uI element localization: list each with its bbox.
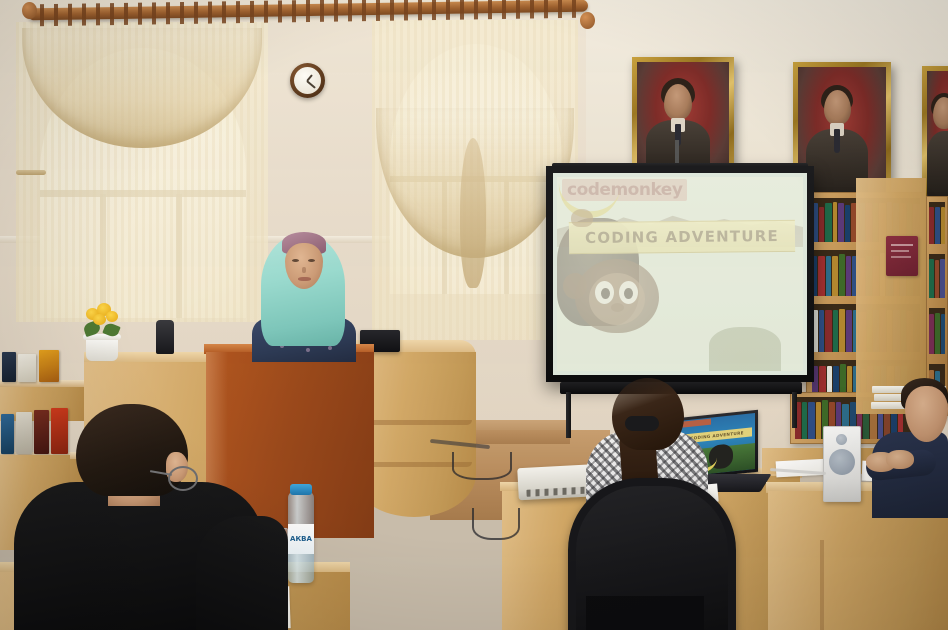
student-foreground-arm	[196, 516, 288, 630]
window-left	[16, 22, 268, 322]
book-display-stand	[0, 352, 84, 470]
chair-seat	[586, 596, 704, 630]
flower-bloom-4	[93, 314, 106, 325]
clock-face	[294, 67, 321, 94]
cable-2	[472, 508, 520, 540]
presentation-photo: codemonkey CODING ADVENTURE	[0, 0, 948, 630]
laptop-logo-bar	[681, 419, 711, 428]
glasses-icon	[168, 466, 198, 491]
portrait-canvas-1	[637, 62, 729, 177]
presenter-eye-left	[292, 259, 299, 262]
student-laptop-head	[612, 378, 684, 450]
right-desk-seam	[820, 540, 824, 630]
attendee-right-hand-b	[886, 450, 914, 469]
water-bottle-label: АКВА	[288, 524, 314, 554]
screen-leg-right	[792, 392, 797, 428]
projection-screen: codemonkey CODING ADVENTURE	[546, 166, 814, 382]
wall-clock	[290, 63, 325, 98]
display-book-4	[1, 414, 14, 454]
speaker-woofer-icon	[829, 449, 855, 475]
display-book-3	[39, 350, 59, 382]
computer-speaker	[823, 426, 861, 502]
flower-pot	[86, 337, 118, 361]
clock-minute-hand	[307, 80, 316, 88]
display-book-1	[2, 352, 16, 382]
speaker-tweeter-icon	[836, 434, 847, 445]
presenter-mouth	[298, 277, 311, 281]
screen-leg-left	[566, 392, 571, 438]
plaque-line-3	[891, 256, 911, 258]
slide-content: codemonkey CODING ADVENTURE	[557, 177, 803, 371]
portrait-canvas-3	[927, 71, 948, 196]
student-laptop-hair-tie	[625, 416, 659, 431]
display-book-5	[16, 412, 32, 454]
window-right-drape-fold	[460, 138, 486, 288]
presenter-nose	[302, 267, 306, 273]
projection-surface: codemonkey CODING ADVENTURE	[553, 173, 807, 375]
screen-bottom-bar	[560, 382, 802, 394]
projector-washout-overlay	[557, 177, 803, 371]
projector-ports	[526, 486, 592, 496]
presenter-eye-right	[308, 259, 315, 262]
display-book-6	[34, 410, 49, 454]
cable-1	[452, 452, 512, 480]
water-bottle-cap	[290, 484, 312, 495]
window-left-tieback	[16, 170, 46, 175]
flower-bloom-3	[106, 311, 118, 322]
plaque-line-1	[891, 244, 913, 246]
laptop-banner-text: CODING ADVENTURE	[690, 430, 744, 441]
plaque-line-2	[891, 250, 909, 252]
counter-equipment	[156, 320, 174, 354]
display-book-7	[51, 408, 68, 454]
water-bottle-label-text: АКВА	[290, 535, 312, 543]
curtain-rod-finial-left	[22, 2, 37, 19]
curtain-rod-finial-right	[580, 12, 595, 29]
display-book-2	[18, 354, 36, 382]
